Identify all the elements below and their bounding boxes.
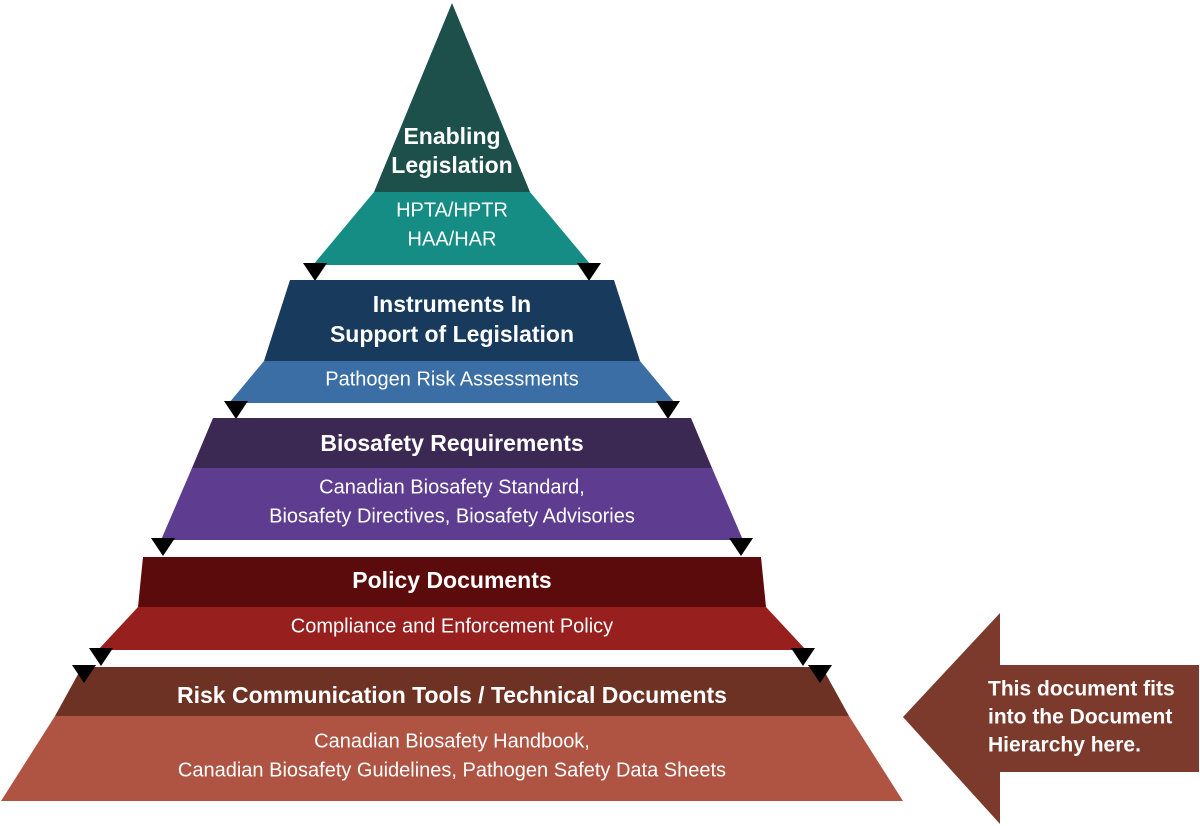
tier-1-title-line-2: Legislation bbox=[391, 152, 512, 178]
tier-1-right-corner-marker-icon bbox=[577, 263, 601, 281]
tier-biosafety-requirements[interactable]: Biosafety Requirements Canadian Biosafet… bbox=[151, 418, 753, 556]
tier-4-title-line-1: Policy Documents bbox=[352, 567, 551, 593]
tier-3-subtitle-line-1: Canadian Biosafety Standard, bbox=[319, 476, 585, 498]
tier-3-right-corner-marker-icon bbox=[729, 538, 753, 556]
tier-2-title-line-1: Instruments In bbox=[373, 291, 531, 317]
tier-risk-communication-tools-technical-documents[interactable]: Risk Communication Tools / Technical Doc… bbox=[1, 665, 903, 801]
callout-text-line-1: This document fits bbox=[988, 678, 1175, 701]
callout-text-line-3: Hierarchy here. bbox=[988, 734, 1141, 757]
tier-5-subtitle-line-1: Canadian Biosafety Handbook, bbox=[314, 730, 590, 752]
tier-5-title-line-1: Risk Communication Tools / Technical Doc… bbox=[177, 682, 727, 708]
pyramid-canvas: Enabling Legislation HPTA/HPTR HAA/HAR I… bbox=[0, 0, 1200, 826]
tier-instruments-in-support-of-legislation[interactable]: Instruments In Support of Legislation Pa… bbox=[224, 280, 680, 419]
tier-2-title-line-2: Support of Legislation bbox=[330, 321, 574, 347]
tier-1-subtitle-line-1: HPTA/HPTR bbox=[396, 199, 508, 221]
callout-text-line-2: into the Document bbox=[988, 706, 1172, 729]
tier-3-left-corner-marker-icon bbox=[151, 538, 175, 556]
tier-1-title-line-1: Enabling bbox=[403, 123, 500, 149]
tier-2-left-corner-marker-icon bbox=[224, 401, 248, 419]
tier-3-subtitle-line-2: Biosafety Directives, Biosafety Advisori… bbox=[269, 505, 635, 527]
document-hierarchy-diagram: Enabling Legislation HPTA/HPTR HAA/HAR I… bbox=[0, 0, 1200, 826]
tier-3-title-line-1: Biosafety Requirements bbox=[320, 430, 583, 456]
tier-enabling-legislation[interactable]: Enabling Legislation HPTA/HPTR HAA/HAR bbox=[303, 3, 601, 281]
tier-4-subtitle-line-1: Compliance and Enforcement Policy bbox=[291, 615, 613, 637]
tier-2-right-corner-marker-icon bbox=[656, 401, 680, 419]
document-fits-here-callout[interactable]: This document fits into the Document Hie… bbox=[903, 613, 1199, 824]
tier-4-right-corner-marker-icon bbox=[791, 648, 815, 666]
tier-2-subtitle-line-1: Pathogen Risk Assessments bbox=[325, 368, 578, 390]
tier-1-left-corner-marker-icon bbox=[303, 263, 327, 281]
tier-5-subtitle-line-2: Canadian Biosafety Guidelines, Pathogen … bbox=[178, 759, 726, 781]
tier-4-left-corner-marker-icon bbox=[89, 648, 113, 666]
tier-1-subtitle-line-2: HAA/HAR bbox=[408, 228, 497, 250]
tier-policy-documents[interactable]: Policy Documents Compliance and Enforcem… bbox=[89, 557, 815, 666]
